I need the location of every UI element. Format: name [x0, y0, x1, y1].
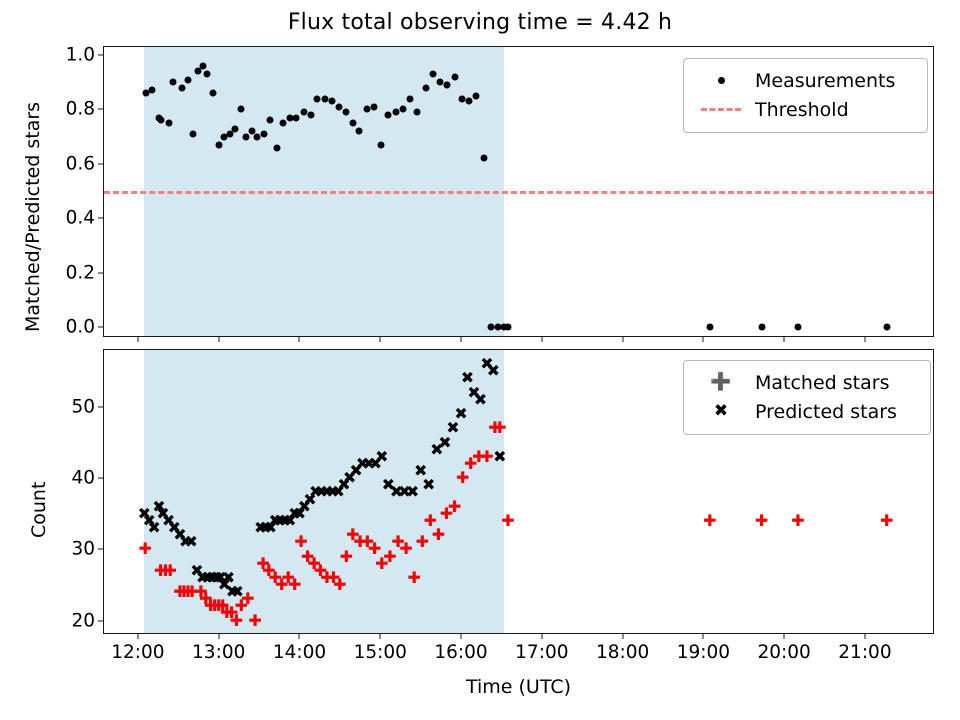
x-tick-label: 18:00: [596, 633, 649, 663]
y-tick-mark: [98, 620, 104, 621]
x-tick-label: 20:00: [757, 633, 810, 663]
datapoint-matched-stars: ✚: [493, 420, 506, 436]
datapoint-measurements: [429, 71, 436, 78]
y-tick-mark: [98, 218, 104, 219]
x-tick-mark: [218, 336, 219, 342]
legend-item-measurements[interactable]: Measurements: [695, 66, 916, 95]
legend-item-threshold[interactable]: Threshold: [695, 95, 916, 124]
datapoint-matched-stars: ✚: [501, 513, 514, 529]
datapoint-matched-stars: ✚: [448, 499, 461, 515]
datapoint-measurements: [414, 109, 421, 116]
datapoint-measurements: [422, 84, 429, 91]
datapoint-predicted-stars: ✖: [422, 477, 435, 493]
legend-item-matched-stars[interactable]: ➕ Matched stars: [695, 368, 919, 397]
y-axis-label-count: Count: [28, 482, 50, 538]
datapoint-measurements: [243, 133, 250, 140]
legend-label-matched-stars: Matched stars: [747, 372, 889, 394]
y-tick-mark: [98, 163, 104, 164]
datapoint-measurements: [231, 125, 238, 132]
figure-root: Flux total observing time = 4.42 h 0.00.…: [0, 0, 960, 720]
datapoint-measurements: [204, 71, 211, 78]
datapoint-measurements: [300, 109, 307, 116]
datapoint-predicted-stars: ✖: [375, 449, 388, 465]
datapoint-measurements: [336, 103, 343, 110]
x-tick-label: 21:00: [838, 633, 891, 663]
datapoint-measurements: [293, 114, 300, 121]
threshold-dash-icon: [695, 108, 747, 111]
x-tick-mark: [461, 336, 462, 342]
datapoint-measurements: [758, 323, 765, 330]
datapoint-measurements: [280, 120, 287, 127]
datapoint-matched-stars: ✚: [416, 534, 429, 550]
datapoint-matched-stars: ✚: [164, 563, 177, 579]
x-tick-mark: [380, 336, 381, 342]
predicted-cross-icon: ✖: [695, 403, 747, 420]
datapoint-matched-stars: ✚: [248, 613, 261, 629]
x-tick-label: 14:00: [273, 633, 326, 663]
y-tick-mark: [98, 109, 104, 110]
x-tick-mark: [137, 336, 138, 342]
datapoint-matched-stars: ✚: [407, 570, 420, 586]
measurements-dot-icon: [695, 77, 747, 84]
datapoint-matched-stars: ✚: [241, 591, 254, 607]
x-tick-label: 15:00: [354, 633, 407, 663]
datapoint-matched-stars: ✚: [399, 541, 412, 557]
datapoint-measurements: [321, 95, 328, 102]
datapoint-measurements: [237, 106, 244, 113]
x-tick-mark: [541, 336, 542, 342]
legend-label-predicted-stars: Predicted stars: [747, 401, 897, 423]
datapoint-predicted-stars: ✖: [185, 534, 198, 550]
datapoint-measurements: [307, 111, 314, 118]
datapoint-measurements: [260, 130, 267, 137]
y-axis-label-ratio: Matched/Predicted stars: [22, 102, 44, 332]
datapoint-matched-stars: ✚: [755, 513, 768, 529]
legend-item-predicted-stars[interactable]: ✖ Predicted stars: [695, 397, 919, 426]
legend-label-threshold: Threshold: [747, 99, 849, 121]
datapoint-measurements: [148, 87, 155, 94]
datapoint-measurements: [266, 117, 273, 124]
figure-title: Flux total observing time = 4.42 h: [0, 10, 960, 35]
datapoint-measurements: [473, 92, 480, 99]
datapoint-measurements: [169, 79, 176, 86]
datapoint-measurements: [706, 323, 713, 330]
datapoint-measurements: [378, 141, 385, 148]
datapoint-measurements: [480, 155, 487, 162]
datapoint-measurements: [199, 63, 206, 70]
datapoint-measurements: [215, 141, 222, 148]
y-tick-mark: [98, 549, 104, 550]
datapoint-matched-stars: ✚: [703, 513, 716, 529]
datapoint-measurements: [444, 82, 451, 89]
x-tick-label: 13:00: [192, 633, 245, 663]
datapoint-predicted-stars: ✖: [454, 406, 467, 422]
datapoint-measurements: [273, 144, 280, 151]
x-tick-label: 12:00: [111, 633, 164, 663]
legend-count: ➕ Matched stars ✖ Predicted stars: [683, 360, 931, 435]
datapoint-predicted-stars: ✖: [493, 449, 506, 465]
datapoint-measurements: [451, 73, 458, 80]
threshold-line: [104, 191, 933, 194]
datapoint-measurements: [437, 79, 444, 86]
datapoint-measurements: [179, 84, 186, 91]
y-tick-mark: [98, 406, 104, 407]
datapoint-measurements: [356, 128, 363, 135]
datapoint-matched-stars: ✚: [340, 549, 353, 565]
datapoint-measurements: [794, 323, 801, 330]
datapoint-matched-stars: ✚: [480, 449, 493, 465]
datapoint-matched-stars: ✚: [333, 577, 346, 593]
x-tick-mark: [864, 336, 865, 342]
datapoint-measurements: [385, 111, 392, 118]
x-tick-mark: [703, 336, 704, 342]
x-tick-label: 16:00: [434, 633, 487, 663]
datapoint-measurements: [458, 95, 465, 102]
matched-plus-icon: ➕: [695, 374, 747, 391]
datapoint-matched-stars: ✚: [791, 513, 804, 529]
datapoint-measurements: [185, 76, 192, 83]
datapoint-predicted-stars: ✖: [487, 363, 500, 379]
datapoint-matched-stars: ✚: [880, 513, 893, 529]
datapoint-measurements: [342, 109, 349, 116]
y-tick-mark: [98, 478, 104, 479]
datapoint-measurements: [165, 120, 172, 127]
datapoint-predicted-stars: ✖: [474, 392, 487, 408]
datapoint-measurements: [349, 120, 356, 127]
datapoint-measurements: [189, 130, 196, 137]
datapoint-measurements: [487, 323, 494, 330]
x-tick-mark: [299, 336, 300, 342]
datapoint-matched-stars: ✚: [288, 577, 301, 593]
datapoint-measurements: [328, 98, 335, 105]
x-tick-label: 19:00: [677, 633, 730, 663]
datapoint-measurements: [392, 109, 399, 116]
datapoint-measurements: [883, 323, 890, 330]
datapoint-matched-stars: ✚: [138, 541, 151, 557]
legend-label-measurements: Measurements: [747, 70, 895, 92]
datapoint-measurements: [158, 117, 165, 124]
x-tick-mark: [784, 336, 785, 342]
x-tick-mark: [622, 336, 623, 342]
datapoint-measurements: [210, 90, 217, 97]
datapoint-measurements: [504, 323, 511, 330]
legend-ratio: Measurements Threshold: [683, 58, 928, 133]
datapoint-measurements: [399, 106, 406, 113]
datapoint-matched-stars: ✚: [432, 527, 445, 543]
datapoint-measurements: [370, 103, 377, 110]
datapoint-measurements: [314, 95, 321, 102]
x-tick-label: 17:00: [515, 633, 568, 663]
x-axis-label: Time (UTC): [103, 676, 934, 698]
datapoint-measurements: [363, 106, 370, 113]
datapoint-measurements: [466, 98, 473, 105]
datapoint-predicted-stars: ✖: [406, 484, 419, 500]
y-tick-mark: [98, 272, 104, 273]
y-tick-mark: [98, 326, 104, 327]
y-tick-mark: [98, 55, 104, 56]
datapoint-measurements: [407, 95, 414, 102]
